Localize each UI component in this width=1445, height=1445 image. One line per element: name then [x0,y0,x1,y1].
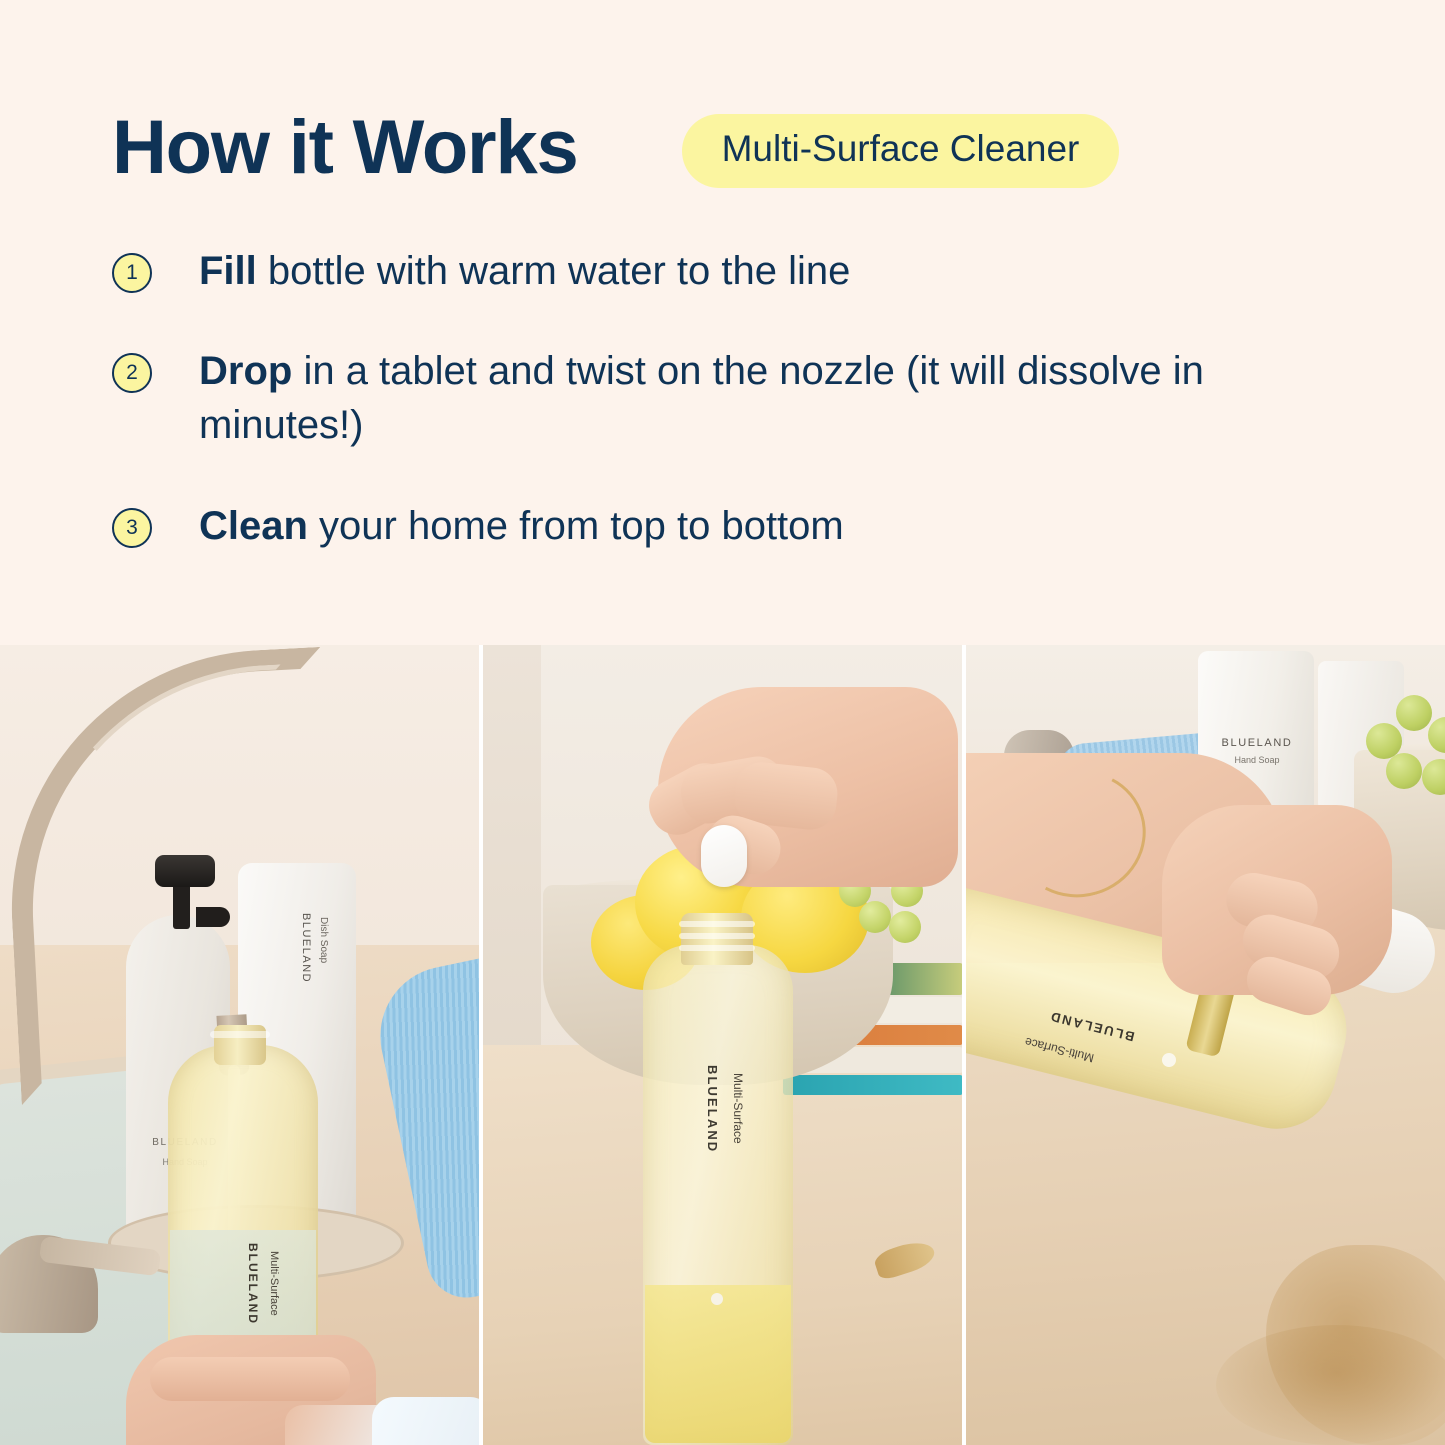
bottle-thread-ring [679,921,755,927]
grape-cluster [1366,687,1445,797]
bottle-brand-label: BLUELAND [705,1065,720,1153]
bottle-thread-ring [679,945,755,951]
steps-list: 1 Fill bottle with warm water to the lin… [0,244,1445,554]
step-rest-1: bottle with warm water to the line [257,249,851,293]
grape [889,911,921,943]
step-rest-3: your home from top to bottom [308,504,844,548]
step-lead-2: Drop [199,349,292,393]
grape [1396,695,1432,731]
instructions-section: How it Works Multi-Surface Cleaner 1 Fil… [0,0,1445,645]
wall-side [483,645,541,1075]
cleaning-tablet [701,825,747,887]
step-number-badge-2: 2 [112,353,152,393]
bottle-liquid [645,1285,791,1443]
grape [1428,717,1445,753]
bottle-thread-ring [679,933,755,939]
sleeve [372,1397,479,1445]
product-badge: Multi-Surface Cleaner [682,114,1120,188]
bottle-variant-label: Multi-Surface [268,1251,280,1316]
fingers [150,1357,350,1401]
step-text-1: Fill bottle with warm water to the line [199,244,850,298]
hand-soap-brand-label: BLUELAND [1211,737,1303,749]
step-text-3: Clean your home from top to bottom [199,499,844,553]
header-row: How it Works Multi-Surface Cleaner [0,0,1445,188]
photo-strip: BLUELAND Dish Soap BLUELAND Hand Soap BL… [0,645,1445,1445]
grape [1422,759,1445,795]
photo-panel-step-2: BLUELAND Multi-Surface [483,645,962,1445]
grape [859,901,891,933]
bottle-brand-label: BLUELAND [246,1243,260,1325]
bottle-thread-ring [210,1031,270,1038]
grape [1386,753,1422,789]
photo-panel-step-3: BLUELAND Hand Soap BLUELAND Multi-Surfac… [966,645,1445,1445]
step-lead-1: Fill [199,249,257,293]
step-rest-2: in a tablet and twist on the nozzle (it … [199,349,1204,447]
step-text-2: Drop in a tablet and twist on the nozzle… [199,344,1324,453]
step-lead-3: Clean [199,504,308,548]
step-number-badge-1: 1 [112,253,152,293]
photo-panel-step-1: BLUELAND Dish Soap BLUELAND Hand Soap BL… [0,645,479,1445]
step-item-1: 1 Fill bottle with warm water to the lin… [112,244,1335,298]
how-it-works-infographic: How it Works Multi-Surface Cleaner 1 Fil… [0,0,1445,1445]
step-item-3: 3 Clean your home from top to bottom [112,499,1335,553]
step-item-2: 2 Drop in a tablet and twist on the nozz… [112,344,1335,453]
book-cover-teal [783,1075,962,1095]
dissolving-tablet-dot [711,1293,723,1305]
dissolving-tablet-dot [1162,1053,1176,1067]
bottle-variant-label: Multi-Surface [731,1073,745,1144]
counter-shadow-2 [1216,1325,1445,1445]
page-title: How it Works [112,110,578,186]
step-number-badge-3: 3 [112,508,152,548]
